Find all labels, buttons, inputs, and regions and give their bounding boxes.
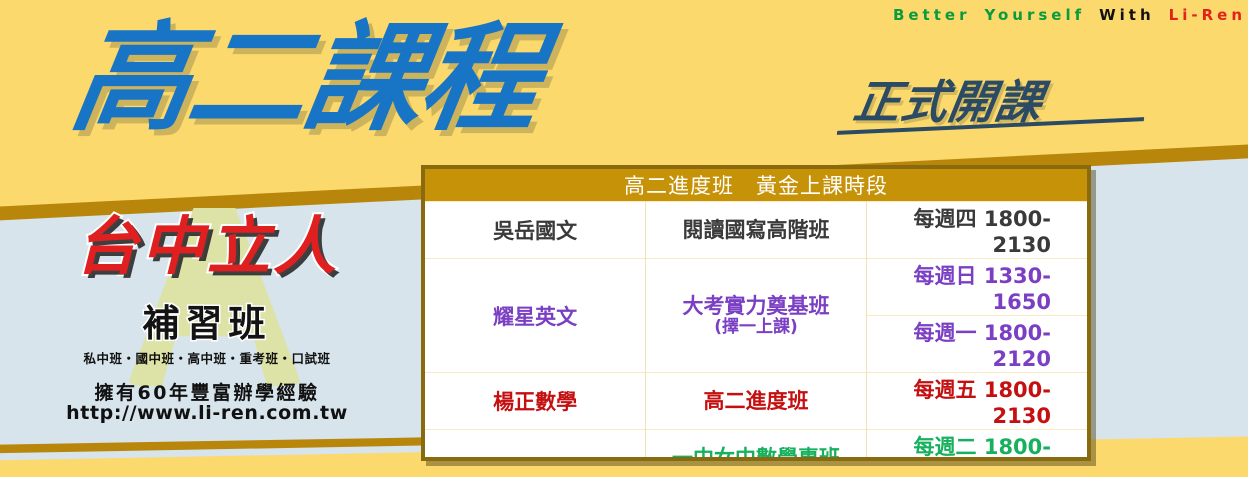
logo-name: 台中立人 [22,214,392,280]
cell-class-name: 閱讀國寫高階班 [646,202,867,259]
cell-teacher: 吳岳國文 [425,202,646,259]
table-row: 吳岳國文閱讀國寫高階班每週四 1800-2130 [425,202,1087,259]
brand-logo: 台中立人 補習班 私中班・國中班・高中班・重考班・口試班 擁有60年豐富辦學經驗… [22,208,392,423]
cell-time: 每週日 1330-1650 [866,259,1087,316]
schedule-table-header: 高二進度班 黃金上課時段 [425,169,1087,202]
logo-website-url[interactable]: http://www.li-ren.com.tw [22,402,392,424]
cell-class-name: 高二進度班 [646,373,867,430]
cell-class-note: (擇一上課) [647,318,865,338]
schedule-table: 高二進度班 黃金上課時段 吳岳國文閱讀國寫高階班每週四 1800-2130耀星英… [425,169,1087,461]
cell-class-name: 一中女中數學專班 [646,430,867,462]
schedule-table-container: 高二進度班 黃金上課時段 吳岳國文閱讀國寫高階班每週四 1800-2130耀星英… [421,165,1091,461]
tagline-word-1: Yourself [984,6,1085,24]
logo-programs: 私中班・國中班・高中班・重考班・口試班 [22,348,392,367]
tagline-word-3: Li-Ren [1169,6,1246,24]
cell-class-name: 大考實力奠基班(擇一上課) [646,259,867,373]
tagline-word-2: With [1099,6,1155,24]
tagline-word-0: Better [893,6,971,24]
table-row: 耀星英文大考實力奠基班(擇一上課)每週日 1330-1650 [425,259,1087,316]
cell-time: 每週一 1800-2120 [866,316,1087,373]
poster-root: BetterYourselfWithLi-Ren 高二課程 正式開課 台中立人 … [0,0,1248,477]
tagline: BetterYourselfWithLi-Ren [650,2,1246,28]
table-row: 楊正數學高二進度班每週五 1800-2130 [425,373,1087,430]
cell-teacher: 耀星英文 [425,259,646,373]
logo-experience: 擁有60年豐富辦學經驗 [22,378,392,405]
cell-time: 每週二 1800-2130 [866,430,1087,462]
cell-time: 每週五 1800-2130 [866,373,1087,430]
page-title: 高二課程 [64,12,549,144]
table-row: 金威數學一中女中數學專班每週二 1800-2130 [425,430,1087,462]
cell-time: 每週四 1800-2130 [866,202,1087,259]
cell-teacher: 金威數學 [425,430,646,462]
cell-teacher: 楊正數學 [425,373,646,430]
logo-subname: 補習班 [22,304,392,345]
